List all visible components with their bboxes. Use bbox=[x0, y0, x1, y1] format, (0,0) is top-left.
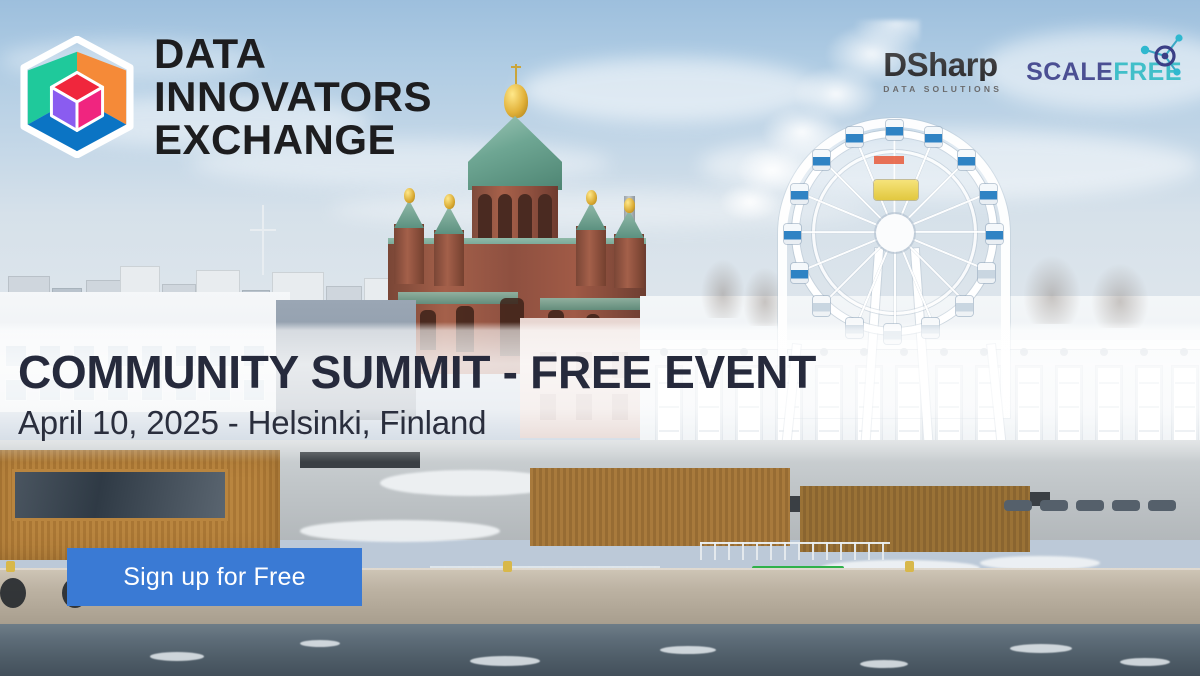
dsharp-tagline: DATA SOLUTIONS bbox=[883, 84, 1002, 94]
brand-logo[interactable]: DATA INNOVATORS EXCHANGE bbox=[18, 33, 432, 161]
brand-line-2: INNOVATORS bbox=[154, 76, 432, 119]
scalefree-word-part-1: SCALE bbox=[1026, 58, 1113, 86]
event-banner: RENTTO RENTTO RENTTO WAFS SAVA WH HERES bbox=[0, 0, 1200, 676]
brand-line-3: EXCHANGE bbox=[154, 119, 432, 162]
partner-logo-dsharp[interactable]: DSharp DATA SOLUTIONS bbox=[883, 48, 1002, 94]
partner-logos: DSharp DATA SOLUTIONS SCALEFREE bbox=[883, 48, 1182, 94]
hexagon-cube-logo-icon bbox=[18, 36, 136, 158]
network-nodes-icon bbox=[1132, 34, 1188, 80]
sign-up-button[interactable]: Sign up for Free bbox=[67, 548, 362, 606]
brand-line-1: DATA bbox=[154, 33, 432, 76]
brand-wordmark: DATA INNOVATORS EXCHANGE bbox=[154, 33, 432, 161]
event-date-location: April 10, 2025 - Helsinki, Finland bbox=[18, 404, 486, 442]
dsharp-wordmark: DSharp bbox=[883, 48, 997, 81]
partner-logo-scalefree[interactable]: SCALEFREE bbox=[1026, 48, 1182, 85]
page-title: COMMUNITY SUMMIT - FREE EVENT bbox=[18, 345, 816, 399]
